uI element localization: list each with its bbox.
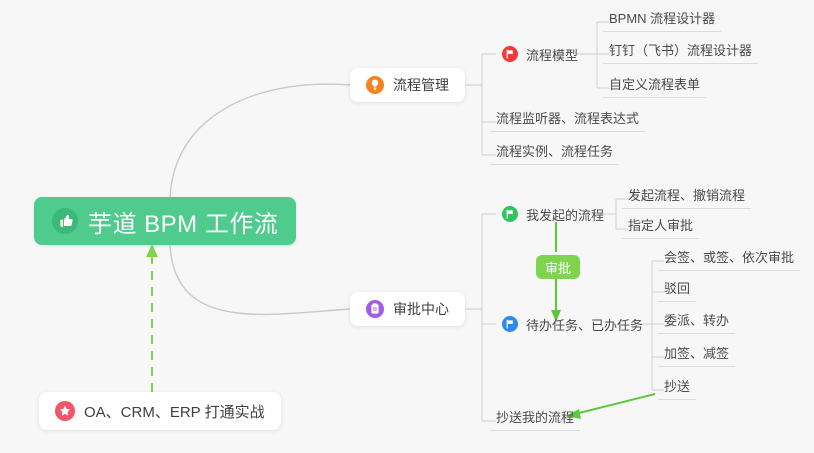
branch-process-management[interactable]: 流程管理 xyxy=(350,68,465,102)
flag-icon xyxy=(502,206,518,222)
integration-note-label: OA、CRM、ERP 打通实战 xyxy=(84,401,265,422)
node-label: 待办任务、已办任务 xyxy=(526,315,643,334)
node-label: 指定人审批 xyxy=(628,215,693,234)
node-label: 委派、转办 xyxy=(664,310,729,329)
node-cc-to-me-process[interactable]: 抄送我的流程 xyxy=(490,409,580,431)
node-my-started-process[interactable]: 我发起的流程 xyxy=(496,202,610,226)
node-label: 抄送 xyxy=(664,376,690,395)
node-label: 自定义流程表单 xyxy=(609,74,700,93)
thumbs-up-icon xyxy=(52,208,78,234)
branch-label: 审批中心 xyxy=(393,299,449,319)
node-process-model[interactable]: 流程模型 xyxy=(496,42,584,66)
node-label: 流程实例、流程任务 xyxy=(496,141,613,160)
node-label: 抄送我的流程 xyxy=(496,407,574,426)
node-label: 钉钉（飞书）流程设计器 xyxy=(609,40,752,59)
node-instance-task[interactable]: 流程实例、流程任务 xyxy=(490,143,619,165)
approval-badge-label: 审批 xyxy=(545,258,571,277)
node-designated-approver[interactable]: 指定人审批 xyxy=(622,217,699,239)
branch-approval-center[interactable]: 审批中心 xyxy=(350,292,465,326)
node-custom-process-form[interactable]: 自定义流程表单 xyxy=(603,76,706,98)
root-node[interactable]: 芋道 BPM 工作流 xyxy=(34,197,296,245)
node-add-remove-sign[interactable]: 加签、减签 xyxy=(658,345,735,367)
branch-label: 流程管理 xyxy=(393,75,449,95)
lightbulb-icon xyxy=(366,76,384,94)
node-label: 会签、或签、依次审批 xyxy=(664,247,794,266)
flag-icon xyxy=(502,316,518,332)
root-label: 芋道 BPM 工作流 xyxy=(88,204,278,239)
node-label: BPMN 流程设计器 xyxy=(609,8,715,27)
node-bpmn-designer[interactable]: BPMN 流程设计器 xyxy=(603,10,721,32)
node-todo-done-task[interactable]: 待办任务、已办任务 xyxy=(496,312,649,336)
clipboard-icon xyxy=(366,300,384,318)
flag-icon xyxy=(502,46,518,62)
node-label: 我发起的流程 xyxy=(526,205,604,224)
node-listener-expression[interactable]: 流程监听器、流程表达式 xyxy=(490,110,645,132)
node-label: 流程模型 xyxy=(526,45,578,64)
node-label: 发起流程、撤销流程 xyxy=(628,185,745,204)
node-label: 驳回 xyxy=(664,278,690,297)
integration-note[interactable]: OA、CRM、ERP 打通实战 xyxy=(39,392,281,430)
approval-badge[interactable]: 审批 xyxy=(536,255,580,279)
node-label: 流程监听器、流程表达式 xyxy=(496,108,639,127)
node-delegate-transfer[interactable]: 委派、转办 xyxy=(658,312,735,334)
star-icon xyxy=(55,401,75,421)
node-dingtalk-feishu-designer[interactable]: 钉钉（飞书）流程设计器 xyxy=(603,42,758,64)
mindmap-canvas: 芋道 BPM 工作流 流程管理 流程模型 BPMN 流程设计器 钉钉（飞书）流程 xyxy=(0,0,814,453)
node-reject[interactable]: 驳回 xyxy=(658,280,696,302)
node-countersign[interactable]: 会签、或签、依次审批 xyxy=(658,249,800,271)
node-label: 加签、减签 xyxy=(664,343,729,362)
node-start-cancel-process[interactable]: 发起流程、撤销流程 xyxy=(622,187,751,209)
node-cc[interactable]: 抄送 xyxy=(658,378,696,400)
